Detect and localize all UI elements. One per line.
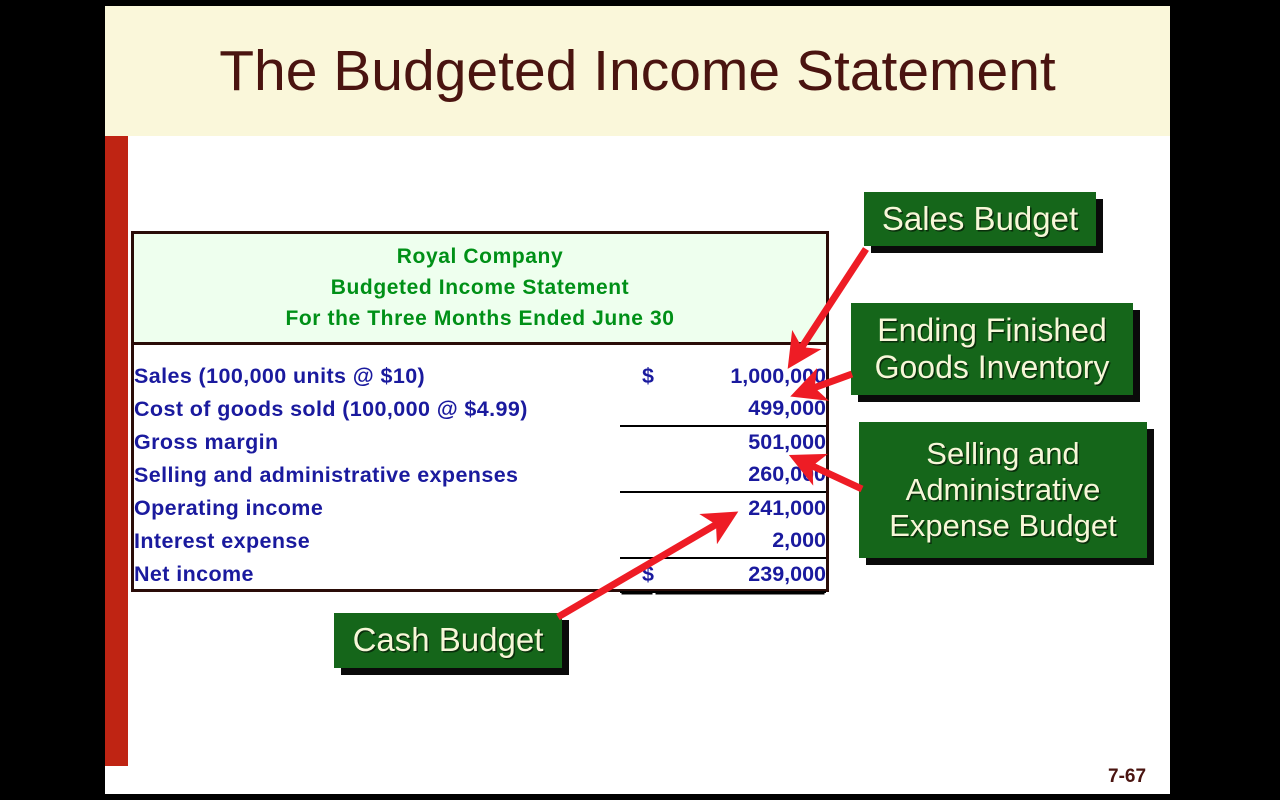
row-amount: 499,000 — [654, 393, 826, 426]
callout-label-line2: Goods Inventory — [875, 349, 1110, 386]
accent-bar — [105, 136, 128, 766]
row-label: Operating income — [134, 492, 620, 525]
page-title: The Budgeted Income Statement — [219, 43, 1056, 100]
callout-selling-administrative-expense-budget: Selling and Administrative Expense Budge… — [859, 422, 1147, 558]
statement-period: For the Three Months Ended June 30 — [134, 304, 826, 335]
row-label: Sales (100,000 units @ $10) — [134, 361, 620, 393]
statement-report-title: Budgeted Income Statement — [134, 273, 826, 304]
callout-label-block: Selling and Administrative Expense Budge… — [889, 436, 1117, 544]
row-currency — [620, 393, 654, 426]
row-currency — [620, 492, 654, 525]
callout-label-line1: Ending Finished — [875, 312, 1110, 349]
callout-label-line3: Expense Budget — [889, 508, 1117, 544]
callout-label-block: Ending Finished Goods Inventory — [875, 312, 1110, 386]
table-row: Net income $ 239,000 — [134, 558, 826, 592]
slide-number: 7-67 — [1108, 766, 1146, 788]
callout-label-line1: Selling and — [889, 436, 1117, 472]
row-label: Interest expense — [134, 525, 620, 558]
table-row: Cost of goods sold (100,000 @ $4.99) 499… — [134, 393, 826, 426]
callout-label: Cash Budget — [353, 621, 544, 659]
row-currency — [620, 459, 654, 492]
row-amount: 1,000,000 — [654, 361, 826, 393]
row-label: Gross margin — [134, 426, 620, 459]
row-amount: 2,000 — [654, 525, 826, 558]
row-amount: 239,000 — [654, 558, 826, 592]
statement-table-body: Sales (100,000 units @ $10) $ 1,000,000 … — [134, 361, 826, 592]
statement-table: Sales (100,000 units @ $10) $ 1,000,000 … — [134, 361, 826, 593]
row-currency: $ — [620, 558, 654, 592]
row-currency — [620, 426, 654, 459]
statement-header: Royal Company Budgeted Income Statement … — [134, 234, 826, 345]
row-label: Net income — [134, 558, 620, 592]
table-row: Operating income 241,000 — [134, 492, 826, 525]
statement-company-name: Royal Company — [134, 242, 826, 273]
callout-ending-finished-goods-inventory: Ending Finished Goods Inventory — [851, 303, 1133, 395]
row-label: Cost of goods sold (100,000 @ $4.99) — [134, 393, 620, 426]
callout-label: Sales Budget — [882, 200, 1078, 238]
budgeted-income-statement: Royal Company Budgeted Income Statement … — [131, 231, 829, 592]
table-row: Sales (100,000 units @ $10) $ 1,000,000 — [134, 361, 826, 393]
callout-sales-budget: Sales Budget — [864, 192, 1096, 246]
statement-body: Sales (100,000 units @ $10) $ 1,000,000 … — [134, 345, 826, 593]
row-amount: 501,000 — [654, 426, 826, 459]
row-label: Selling and administrative expenses — [134, 459, 620, 492]
table-row: Gross margin 501,000 — [134, 426, 826, 459]
callout-cash-budget: Cash Budget — [334, 613, 562, 668]
title-band: The Budgeted Income Statement — [105, 6, 1170, 136]
row-currency — [620, 525, 654, 558]
row-currency: $ — [620, 361, 654, 393]
row-amount: 241,000 — [654, 492, 826, 525]
callout-label-line2: Administrative — [889, 472, 1117, 508]
table-row: Interest expense 2,000 — [134, 525, 826, 558]
table-row: Selling and administrative expenses 260,… — [134, 459, 826, 492]
row-amount: 260,000 — [654, 459, 826, 492]
letterbox-strip-bottom — [105, 794, 1170, 800]
slide-stage: The Budgeted Income Statement Royal Comp… — [0, 0, 1280, 800]
